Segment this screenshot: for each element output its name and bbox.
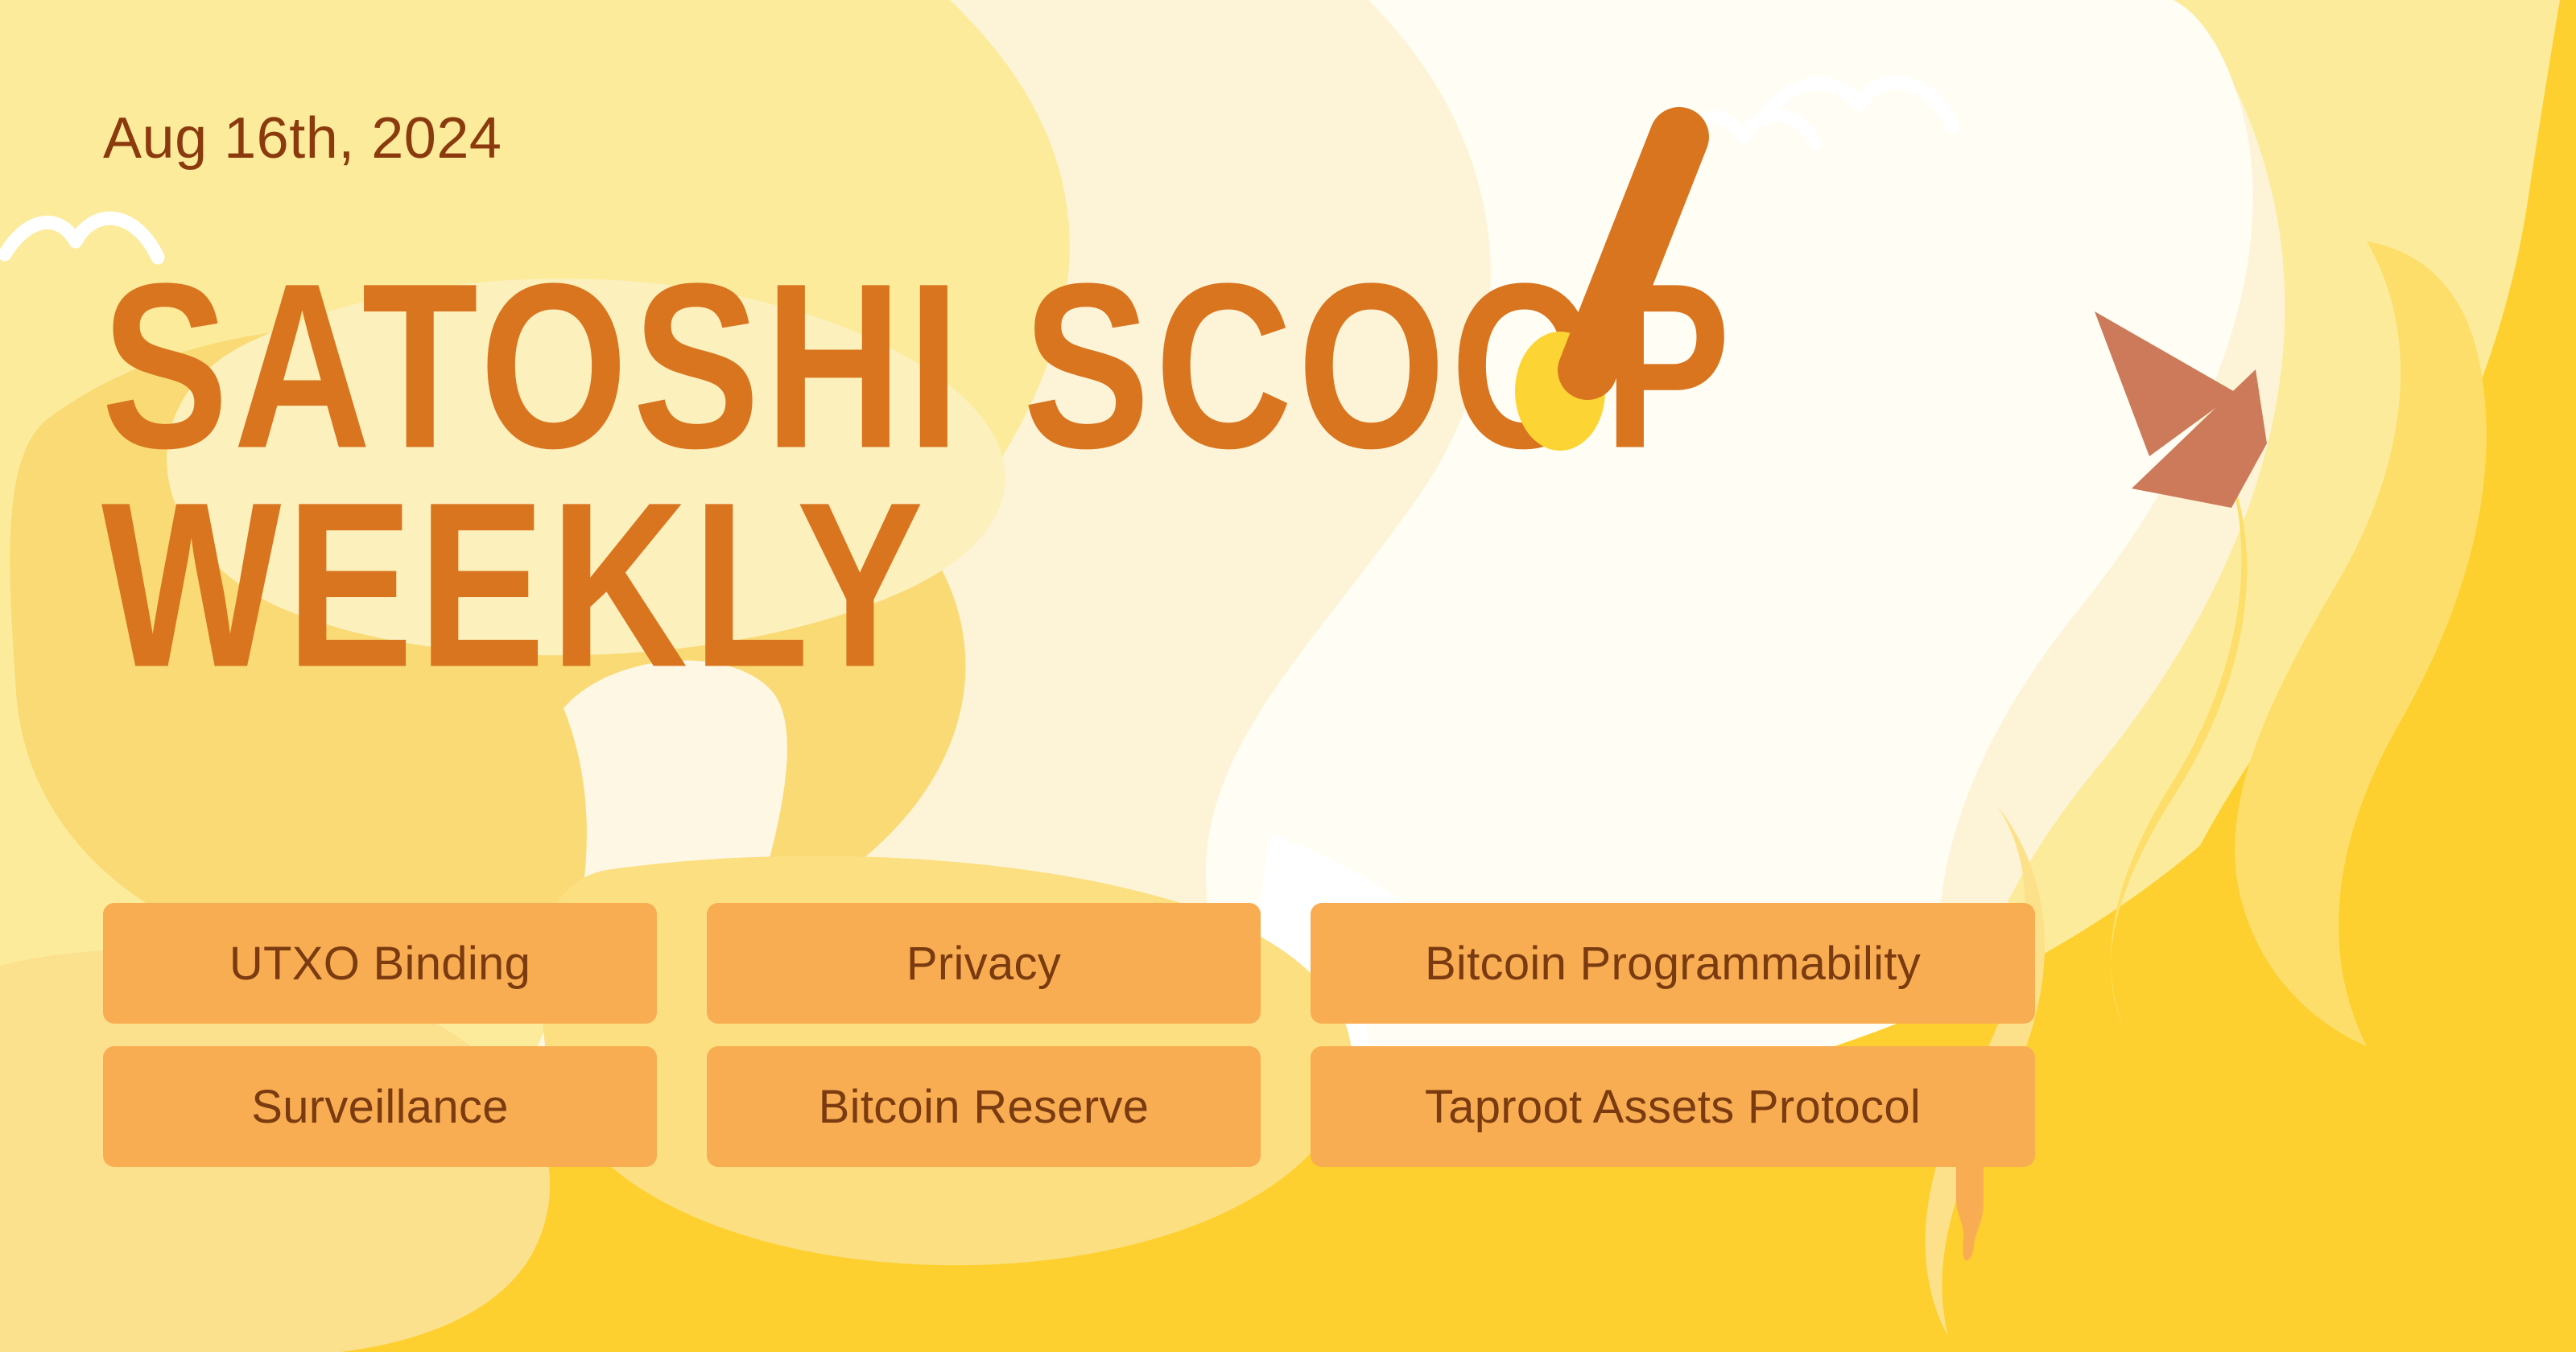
topic-tag-label: Bitcoin Programmability [1425,937,1921,991]
sailboat-icon [2045,286,2318,527]
publication-date: Aug 16th, 2024 [103,109,502,167]
topic-tag-label: Taproot Assets Protocol [1425,1080,1921,1134]
topic-tag-label: Privacy [906,937,1061,991]
topic-tag-row-1: UTXO Binding Privacy Bitcoin Programmabi… [103,903,2035,1024]
topic-tag-taproot-assets-protocol[interactable]: Taproot Assets Protocol [1311,1046,2035,1167]
title-line-secondary: WEEKLY [101,484,2154,686]
topic-tag-row-2: Surveillance Bitcoin Reserve Taproot Ass… [103,1046,2035,1167]
topic-tag-privacy[interactable]: Privacy [707,903,1261,1024]
topic-tag-label: UTXO Binding [229,937,530,991]
honey-drip-icon [1951,1167,1988,1262]
topic-tag-utxo-binding[interactable]: UTXO Binding [103,903,657,1024]
newsletter-cover-banner: Aug 16th, 2024 SATOSHI SCOOP WEEKLY UTXO… [0,0,2576,1352]
topic-tag-label: Surveillance [251,1080,509,1134]
topic-tag-bitcoin-programmability[interactable]: Bitcoin Programmability [1311,903,2035,1024]
page-title: SATOSHI SCOOP WEEKLY [101,266,2114,645]
topic-tag-surveillance[interactable]: Surveillance [103,1046,657,1167]
topic-tag-bitcoin-reserve[interactable]: Bitcoin Reserve [707,1046,1261,1167]
topic-tag-grid: UTXO Binding Privacy Bitcoin Programmabi… [103,903,2035,1189]
topic-tag-label: Bitcoin Reserve [819,1080,1150,1134]
title-line-primary: SATOSHI SCOOP [101,266,2154,468]
